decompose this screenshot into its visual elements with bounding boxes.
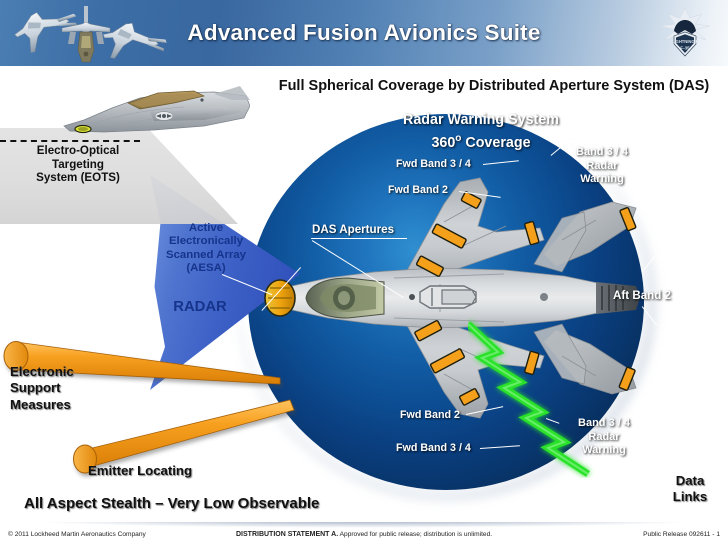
esm-label: Electronic Support Measures <box>10 364 118 413</box>
band-34-radar-warning-top-label: Band 3 / 4 Radar Warning <box>559 146 645 187</box>
esm-l1: Electronic <box>10 364 74 379</box>
emitter-locating-label: Emitter Locating <box>88 463 192 478</box>
aesa-l4: (AESA) <box>186 262 225 274</box>
footer-distribution-bold: DISTRIBUTION STATEMENT A. <box>236 531 338 538</box>
eots-aircraft-side-view <box>54 76 250 154</box>
das-apertures-underline <box>311 238 407 239</box>
aesa-l1: Active <box>189 222 223 234</box>
header-banner: Advanced Fusion Avionics Suite LIGHTNING… <box>0 0 728 66</box>
svg-text:F-35: F-35 <box>680 45 690 50</box>
slide-root: Advanced Fusion Avionics Suite LIGHTNING… <box>0 0 728 546</box>
eots-label-line3: System (EOTS) <box>2 171 154 185</box>
band34-bot-l3: Warning <box>582 444 626 456</box>
fwd-band-34-top-label: Fwd Band 3 / 4 <box>396 158 471 170</box>
eots-label-line2: Targeting <box>2 158 154 172</box>
stealth-statement: All Aspect Stealth – Very Low Observable <box>24 495 319 512</box>
das-coverage-title: Full Spherical Coverage by Distributed A… <box>268 78 720 94</box>
footer-copyright: © 2011 Lockheed Martin Aeronautics Compa… <box>8 531 146 538</box>
three-f35-jets-icon <box>4 2 194 66</box>
das-apertures-label: DAS Apertures <box>312 223 394 236</box>
band-34-radar-warning-bottom-label: Band 3 / 4 Radar Warning <box>561 417 647 458</box>
footer-distribution-rest: Approved for public release; distributio… <box>338 531 492 538</box>
band34-top-l3: Warning <box>580 173 624 185</box>
radar-warning-system-label: Radar Warning System 360o Coverage <box>386 112 576 152</box>
fwd-band-34-bottom-label: Fwd Band 3 / 4 <box>396 442 471 454</box>
eots-label: Electro-Optical Targeting System (EOTS) <box>2 144 154 185</box>
data-links-l2: Links <box>673 489 707 504</box>
footer: © 2011 Lockheed Martin Aeronautics Compa… <box>0 522 728 546</box>
rws-line2-post: Coverage <box>461 134 530 150</box>
fwd-band-2-top-label: Fwd Band 2 <box>388 184 448 196</box>
lightning-ii-f35-logo-icon: LIGHTNING II F-35 <box>654 6 716 60</box>
rws-line1: Radar Warning System <box>403 112 559 128</box>
radar-label: RADAR <box>140 299 260 315</box>
data-links-l1: Data <box>676 473 705 488</box>
rws-deg-value: 360 <box>431 134 455 150</box>
band34-top-l1: Band 3 / 4 <box>576 146 628 158</box>
footer-distribution: DISTRIBUTION STATEMENT A. Approved for p… <box>236 531 492 538</box>
footer-release: Public Release 092611 - 1 <box>643 531 720 538</box>
aesa-l3: Scanned Array <box>166 249 246 261</box>
aesa-label: Active Electronically Scanned Array (AES… <box>144 222 268 276</box>
svg-text:LIGHTNING II: LIGHTNING II <box>672 39 698 44</box>
eots-label-line1: Electro-Optical <box>2 144 154 158</box>
aft-band-2-label: Aft Band 2 <box>613 289 671 302</box>
footer-divider <box>0 522 728 528</box>
aesa-l2: Electronically <box>169 235 243 247</box>
esm-l2: Support <box>10 380 61 395</box>
band34-top-l2: Radar <box>586 160 617 172</box>
band34-bot-l1: Band 3 / 4 <box>578 417 630 429</box>
esm-l3: Measures <box>10 397 71 412</box>
fwd-band-2-bottom-label: Fwd Band 2 <box>400 409 460 421</box>
band34-bot-l2: Radar <box>588 431 619 443</box>
data-links-label: Data Links <box>659 473 721 505</box>
